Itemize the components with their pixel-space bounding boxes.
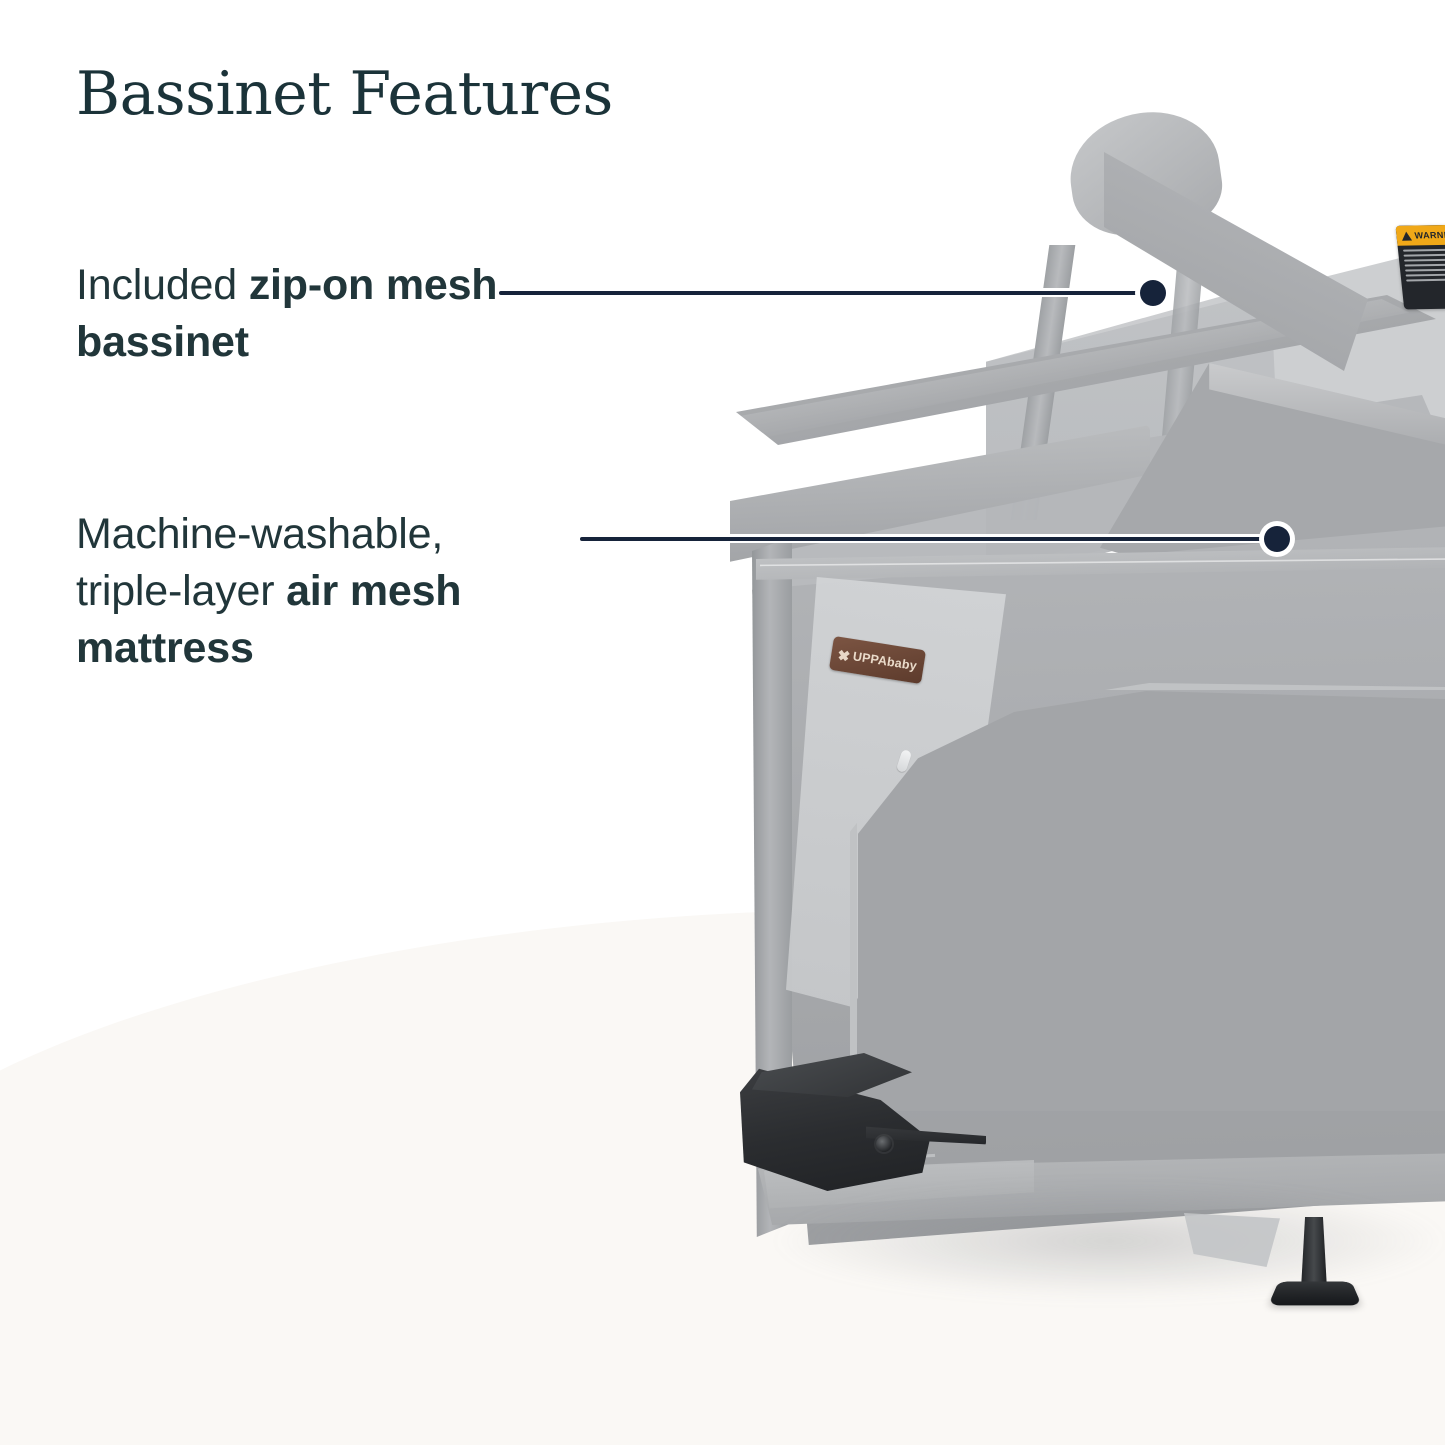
infographic-canvas: UPPAbaby WARNING Bassinet Features [0,0,1445,1445]
leader-line-2-stroke [580,537,1282,541]
leader-line-1-stroke [499,291,1158,295]
uppababy-cross-icon [836,647,851,662]
rear-leg-base [1268,1282,1362,1306]
corner-foot-pivot-icon [876,1136,892,1152]
leader-line-2-endpoint-dot [1264,526,1290,552]
warning-triangle-icon [1401,231,1412,240]
feature-callout-text-2: Machine-washable, triple-layer air mesh … [76,506,556,678]
feature-callout-text-1: Included zip-on mesh bassinet [76,257,506,371]
warning-label-header: WARNING [1395,225,1445,246]
leader-line-1-endpoint-dot [1140,280,1166,306]
warning-label-word: WARNING [1414,230,1445,241]
leader-line-1 [497,288,1160,297]
leader-line-2 [578,534,1284,543]
page-title: Bassinet Features [76,63,613,126]
warning-label-text-lines [1398,244,1445,281]
warning-label: WARNING [1395,225,1445,310]
feature-1-lead: Included [76,261,249,309]
product-image: UPPAbaby WARNING [700,95,1445,1305]
brand-tag-label: UPPAbaby [852,649,918,673]
